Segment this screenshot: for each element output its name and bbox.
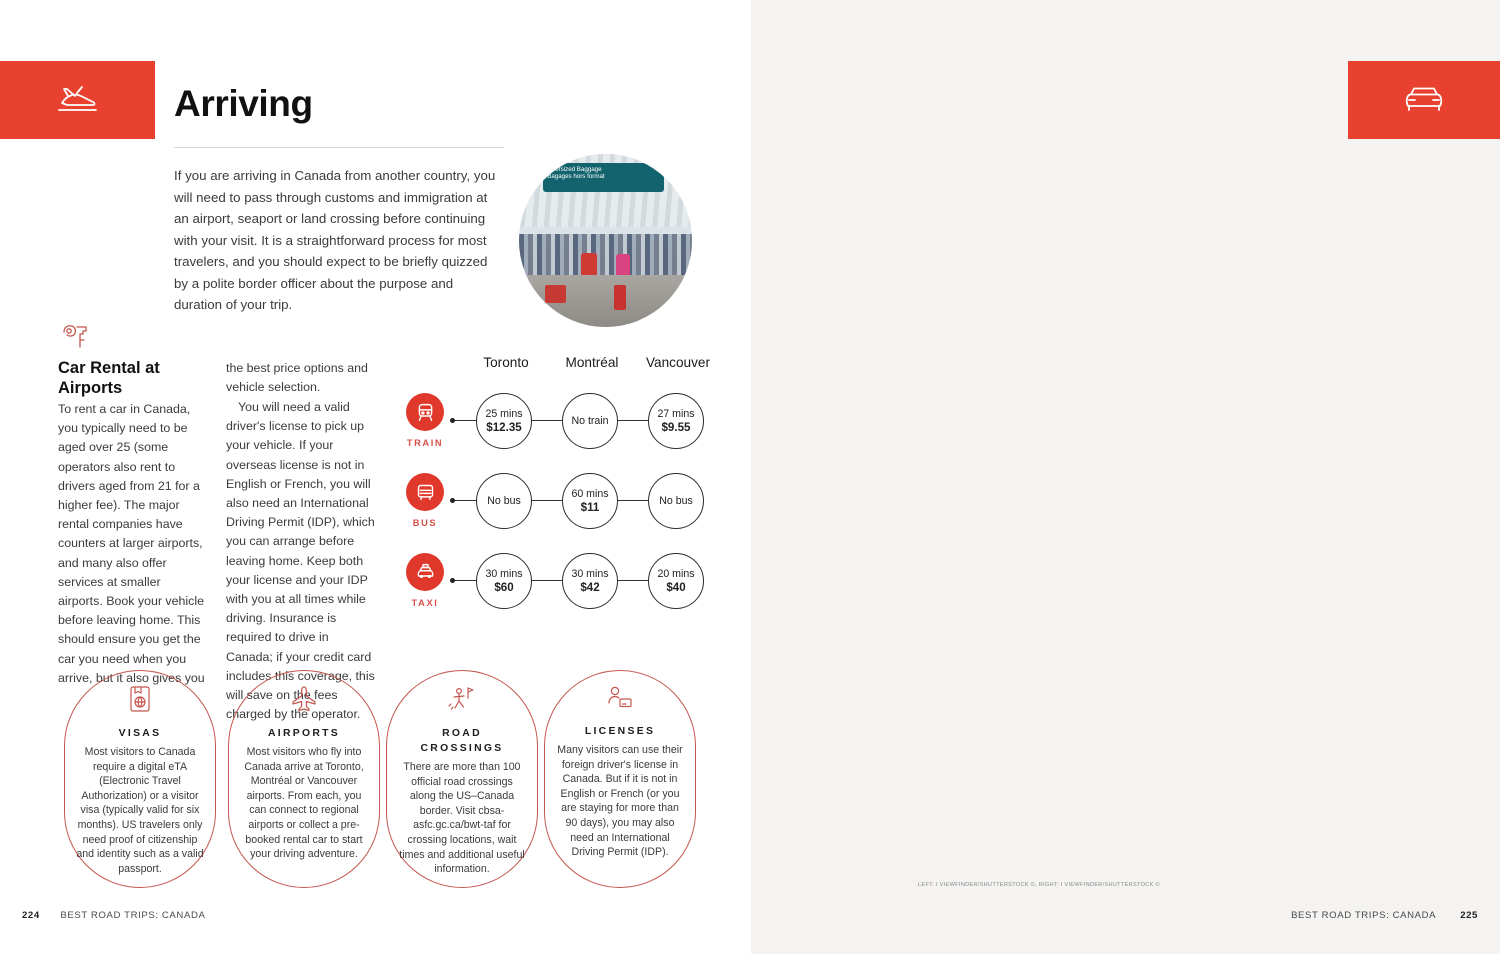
- chart-cell-price: $9.55: [661, 421, 690, 434]
- chart-cell: 30 mins $42: [562, 553, 618, 609]
- section-heading: Car Rental at Airports: [58, 358, 208, 398]
- title-rule: [174, 147, 504, 148]
- info-oval-visas: VISAS Most visitors to Canada require a …: [64, 670, 216, 888]
- airport-photo: Oversized BaggageBagages hors format: [519, 154, 692, 327]
- left-page: Arriving If you are arriving in Canada f…: [0, 0, 751, 954]
- chart-cell-time: 20 mins: [657, 568, 694, 581]
- chart-cell-time: 27 mins: [657, 408, 694, 421]
- chart-col-header-toronto: Toronto: [458, 355, 554, 370]
- pedestrian-crossing-icon: [447, 685, 477, 718]
- chart-cell-time: No bus: [487, 495, 521, 508]
- chart-row-label-train: TRAIN: [399, 438, 451, 448]
- body-column-1: To rent a car in Canada, you typically n…: [58, 400, 208, 688]
- chart-cell: 27 mins $9.55: [648, 393, 704, 449]
- train-icon: [406, 393, 444, 431]
- chart-cell-time: 60 mins: [571, 488, 608, 501]
- book-title: BEST ROAD TRIPS: CANADA: [1291, 910, 1436, 921]
- chart-cell-price: $40: [666, 581, 685, 594]
- oval-body: Most visitors who fly into Canada arrive…: [240, 745, 368, 862]
- chart-cell: No train: [562, 393, 618, 449]
- chart-cell-time: 30 mins: [571, 568, 608, 581]
- body-column-2-top: the best price options and vehicle selec…: [226, 359, 376, 397]
- info-oval-licenses: LICENSES Many visitors can use their for…: [544, 670, 696, 888]
- photo-sign-text: Oversized BaggageBagages hors format: [543, 163, 664, 192]
- right-page: Getting Around Canada has a well-maintai…: [751, 0, 1500, 954]
- chart-cell-price: $60: [494, 581, 513, 594]
- airplane-icon: [290, 685, 318, 718]
- book-title: BEST ROAD TRIPS: CANADA: [60, 910, 205, 921]
- chart-col-header-vancouver: Vancouver: [630, 355, 726, 370]
- transport-comparison-chart: Toronto Montréal Vancouver TRAIN 25 mins…: [398, 355, 698, 595]
- oval-title: LICENSES: [585, 724, 655, 739]
- chart-cell: 60 mins $11: [562, 473, 618, 529]
- chart-line-dot: [450, 418, 455, 423]
- chart-cell-price: $12.35: [486, 421, 521, 434]
- chart-cell-time: 25 mins: [485, 408, 522, 421]
- oval-body: Most visitors to Canada require a digita…: [76, 745, 204, 876]
- chart-cell: No bus: [476, 473, 532, 529]
- bus-icon: [406, 473, 444, 511]
- passport-icon: [128, 685, 152, 718]
- chart-line-dot: [450, 498, 455, 503]
- chart-cell: 20 mins $40: [648, 553, 704, 609]
- chart-row-label-bus: BUS: [399, 518, 451, 528]
- car-key-icon: [60, 322, 90, 355]
- chart-cell: 30 mins $60: [476, 553, 532, 609]
- page-number: 224: [22, 910, 40, 921]
- chart-cell-time: 30 mins: [485, 568, 522, 581]
- footer-left: 224 BEST ROAD TRIPS: CANADA: [22, 910, 205, 921]
- chart-cell-time: No bus: [659, 495, 693, 508]
- page-number: 225: [1460, 910, 1478, 921]
- airplane-landing-icon: [55, 83, 101, 117]
- chart-cell-price: $11: [581, 501, 600, 514]
- book-spread: Arriving If you are arriving in Canada f…: [0, 0, 1500, 954]
- chart-cell: 25 mins $12.35: [476, 393, 532, 449]
- info-oval-road-crossings: ROAD CROSSINGS There are more than 100 o…: [386, 670, 538, 888]
- page-title: Arriving: [174, 83, 313, 125]
- chart-cell-price: $42: [580, 581, 599, 594]
- taxi-icon: [406, 553, 444, 591]
- car-front-icon: [1402, 84, 1446, 116]
- chart-row-label-taxi: TAXI: [399, 598, 451, 608]
- intro-paragraph: If you are arriving in Canada from anoth…: [174, 165, 504, 316]
- driver-license-icon: [606, 685, 634, 716]
- oval-title: VISAS: [119, 726, 162, 741]
- chart-cell: No bus: [648, 473, 704, 529]
- oval-body: There are more than 100 official road cr…: [398, 760, 526, 877]
- photo-credit: LEFT: I VIEWFINDER/SHUTTERSTOCK ©, RIGHT…: [918, 882, 1160, 888]
- oval-title: ROAD CROSSINGS: [398, 726, 526, 756]
- oval-title: AIRPORTS: [268, 726, 340, 741]
- getting-around-header-block: [1348, 61, 1500, 139]
- footer-right: BEST ROAD TRIPS: CANADA 225: [1291, 910, 1478, 921]
- chart-col-header-montreal: Montréal: [544, 355, 640, 370]
- chart-cell-time: No train: [571, 415, 608, 428]
- chart-line-dot: [450, 578, 455, 583]
- info-oval-airports: AIRPORTS Most visitors who fly into Cana…: [228, 670, 380, 888]
- arriving-header-block: [0, 61, 155, 139]
- oval-body: Many visitors can use their foreign driv…: [556, 743, 684, 860]
